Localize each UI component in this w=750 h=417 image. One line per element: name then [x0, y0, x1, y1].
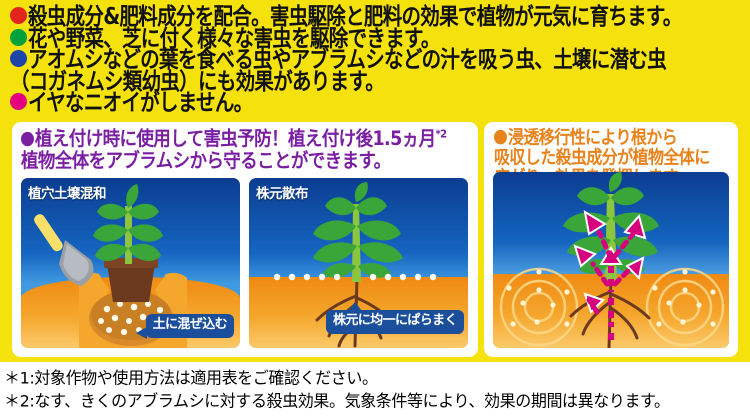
feature-item: 殺虫成分&肥料成分を配合。害虫駆除と肥料の効果で植物が元気に育ちます。 [10, 4, 746, 25]
bullet-red-icon [10, 7, 27, 24]
footnote-1: ＊1:対象作物や使用方法は適用表をご確認ください。 [4, 366, 750, 390]
feature-text: イヤなニオイがしません。 [28, 90, 252, 114]
figure-callout-text: 土に混ぜ込む [153, 317, 227, 332]
usage-panel-heading: 植え付け時に使用して害虫予防！植え付け後1.5ヵ月*2 植物全体をアブラムシから… [12, 122, 478, 173]
figure-label: 植穴土壌混和 [28, 182, 106, 202]
footnote-marker: *2 [435, 129, 446, 141]
figure-soil-incorporation: 植穴土壌混和 土に混ぜ込む [21, 178, 240, 348]
feature-list: 殺虫成分&肥料成分を配合。害虫駆除と肥料の効果で植物が元気に育ちます。 花や野菜… [10, 4, 746, 112]
panels-row: 植え付け時に使用して害虫予防！植え付け後1.5ヵ月*2 植物全体をアブラムシから… [0, 122, 750, 360]
figure-label: 株元散布 [256, 182, 308, 202]
figure-callout: 株元に均一にぱらまく [326, 310, 464, 334]
bullet-green-icon [10, 29, 27, 46]
usage-panel: 植え付け時に使用して害虫予防！植え付け後1.5ヵ月*2 植物全体をアブラムシから… [12, 122, 478, 357]
features-panel: 殺虫成分&肥料成分を配合。害虫駆除と肥料の効果で植物が元気に育ちます。 花や野菜… [0, 0, 750, 362]
usage-figures: 植穴土壌混和 土に混ぜ込む [21, 178, 468, 348]
figure-callout-text: 株元に均一にぱらまく [333, 313, 457, 328]
translocation-heading-line2: 吸収した殺虫成分が植物全体に [494, 147, 710, 168]
footnote-2: ＊2:なす、きくのアブラムシに対する殺虫効果。気象条件等により、効果の期間は異な… [4, 389, 750, 413]
bullet-blue-icon [10, 50, 27, 67]
bullet-orange-icon [494, 130, 507, 145]
bullet-purple-icon [21, 132, 34, 146]
translocation-heading-line1: 浸透移行性により根から [508, 126, 677, 147]
feature-item: アオムシなどの葉を食べる虫やアブラムシなどの汁を吸う虫、土壌に潜む虫 [10, 47, 746, 68]
translocation-panel: 浸透移行性により根から 吸収した殺虫成分が植物全体に 広がり、効果を発揮します。 [484, 122, 738, 357]
bullet-pink-icon [10, 93, 27, 110]
usage-heading-line1: 植え付け時に使用して害虫予防！植え付け後1.5ヵ月 [35, 128, 435, 150]
usage-heading-line2: 植物全体をアブラムシから守ることができます。 [21, 150, 391, 172]
footnotes: ＊1:対象作物や使用方法は適用表をご確認ください。 ＊2:なす、きくのアブラムシ… [0, 366, 750, 412]
figure-callout: 土に混ぜ込む [146, 314, 234, 338]
figure-3-illustration [493, 172, 729, 348]
figure-translocation [493, 172, 729, 348]
figure-basal-application: 株元散布 株元に均一にぱらまく [249, 178, 468, 348]
